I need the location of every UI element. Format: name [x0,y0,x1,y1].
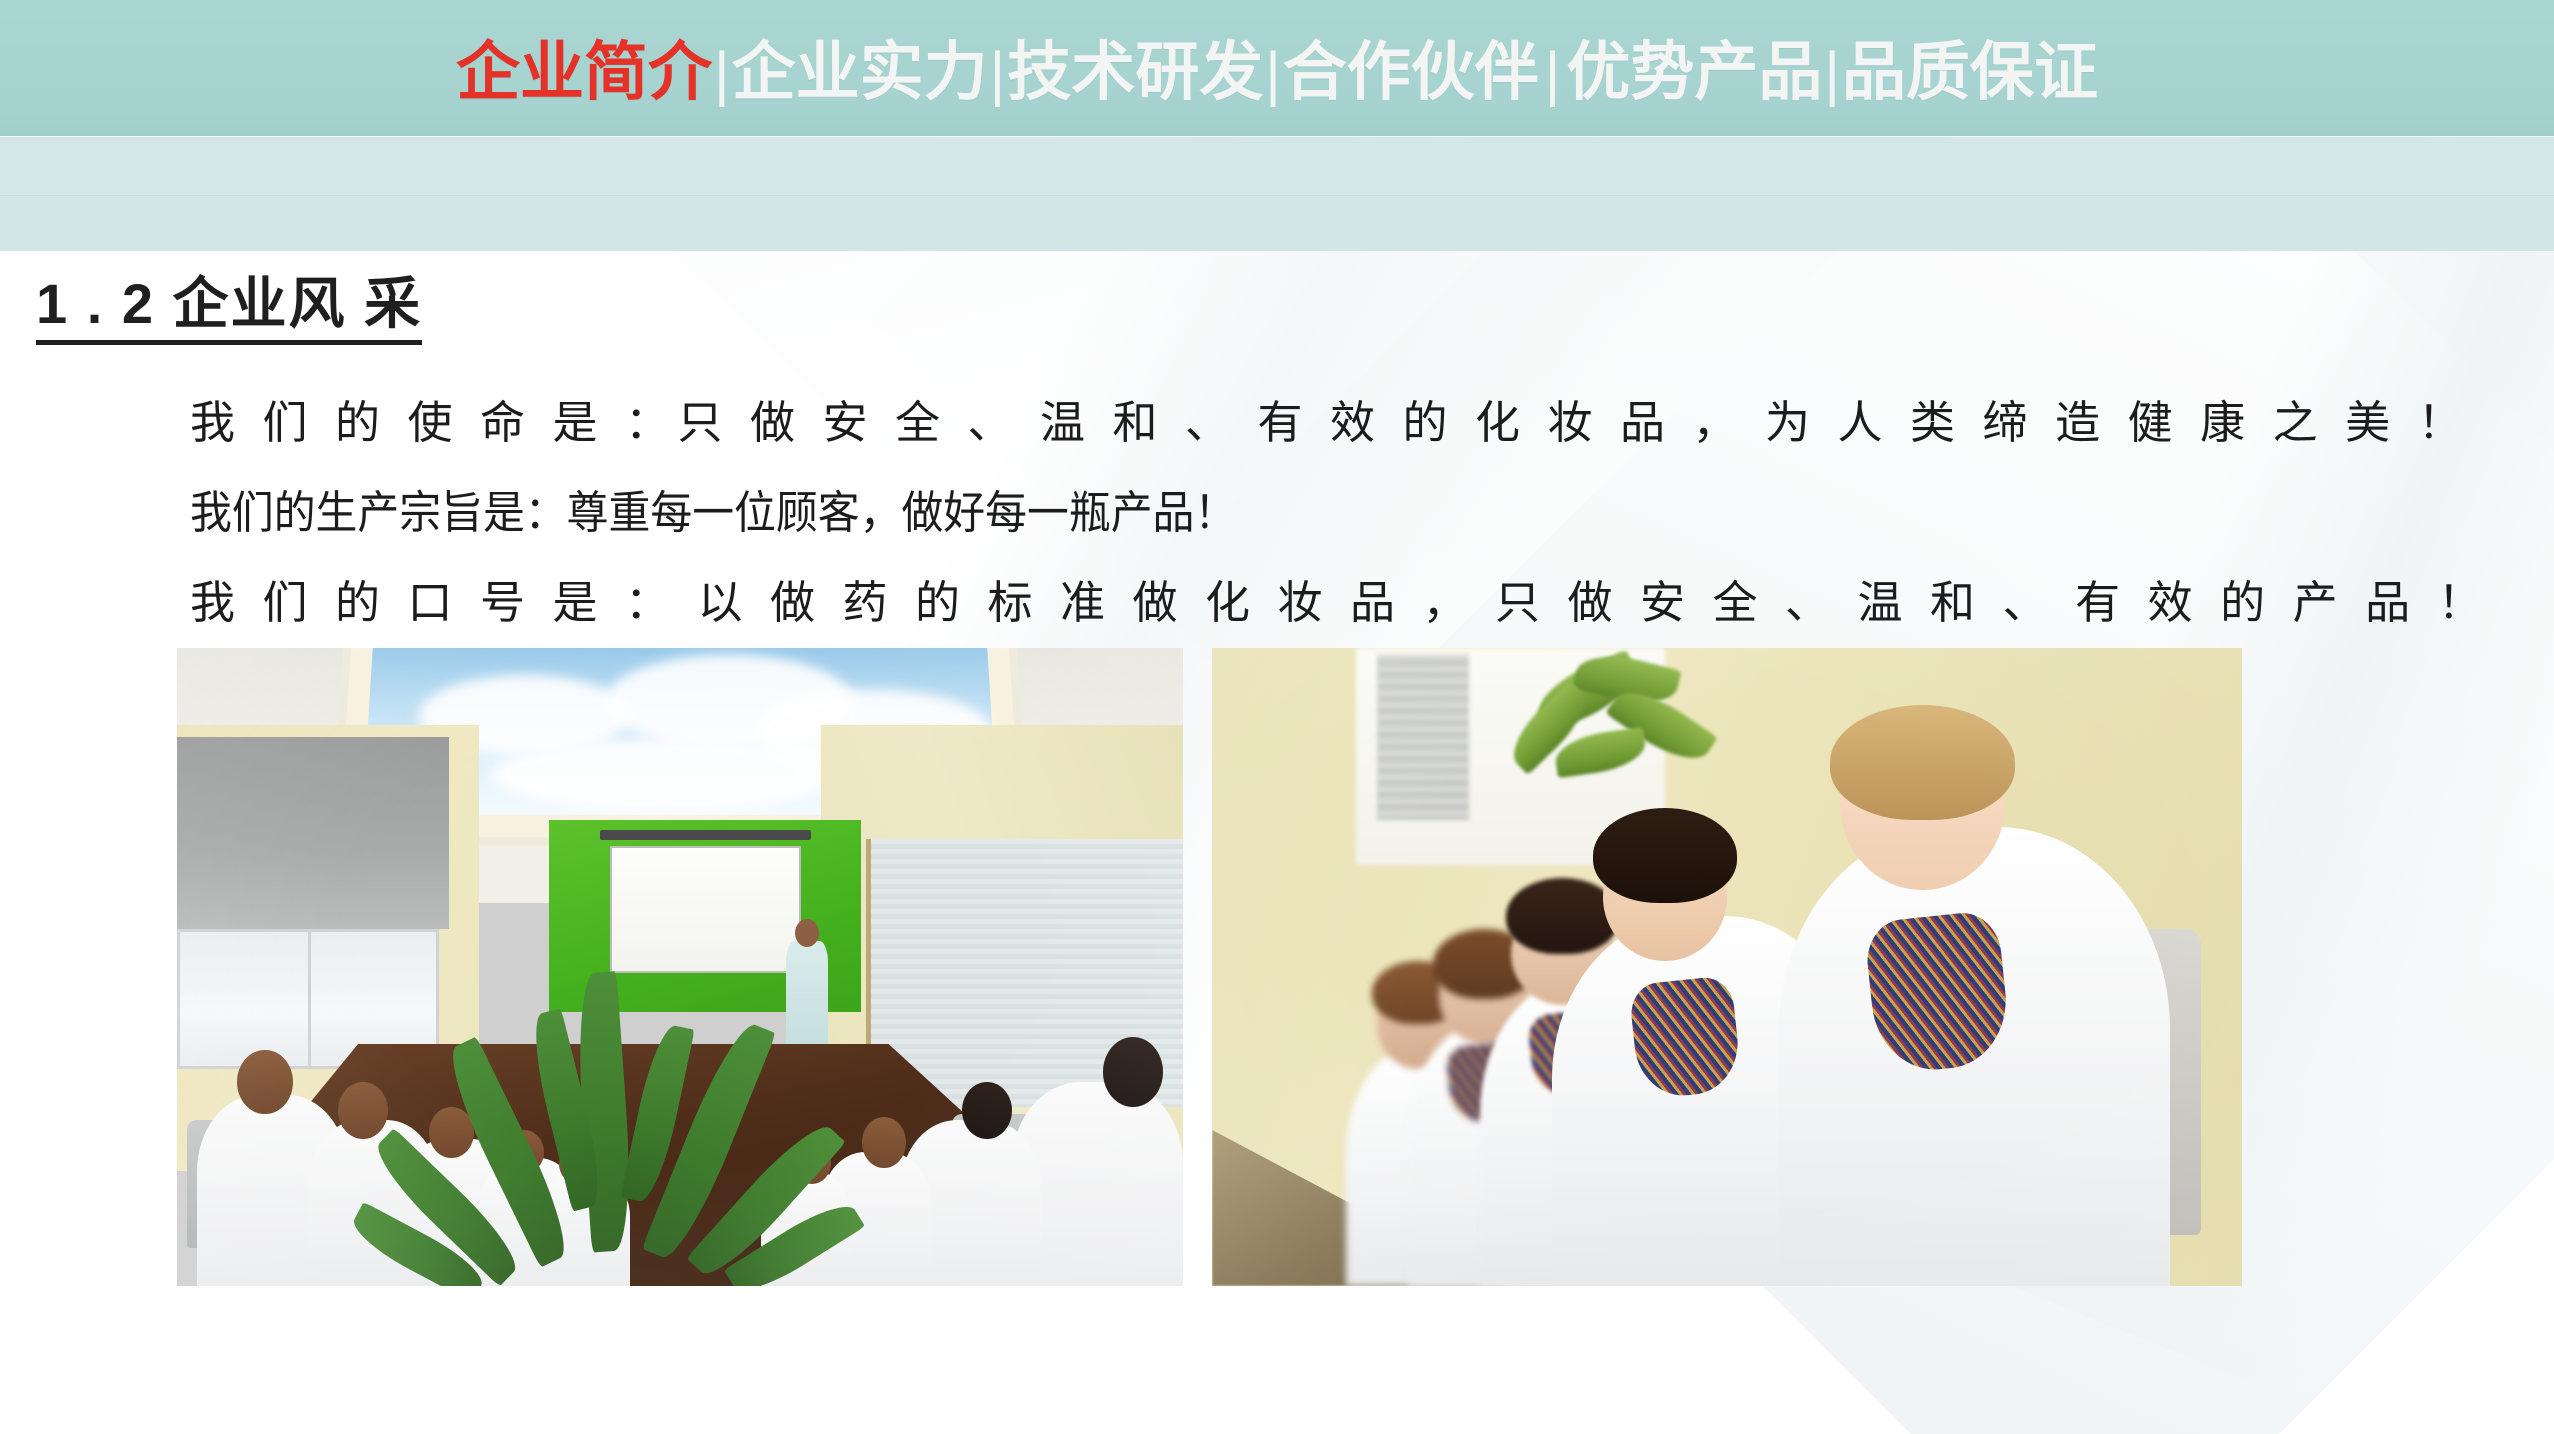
staff-head [962,1082,1012,1139]
nav-separator: | [1263,44,1283,104]
background-plant [1480,654,1748,833]
nav-separator: | [988,44,1008,104]
header-band-mid [0,137,2554,196]
staff-team-photo [1212,648,2242,1286]
projector-screen-housing [600,830,811,840]
table-plant [449,929,791,1286]
header-band-low [0,196,2554,251]
nav-item-1[interactable]: 企业简介 [456,40,712,104]
top-navigation: 企业简介|企业实力|技术研发|合作伙伴|优势产品|品质保证 [0,0,2554,136]
presenter-head [795,919,819,947]
conference-room-meeting-photo [177,648,1183,1286]
nav-item-6[interactable]: 品质保证 [1842,40,2098,104]
staff-hair [1593,808,1737,904]
cloud [490,739,845,811]
staff-head [862,1117,906,1168]
staff-head [237,1050,292,1114]
body-line-1: 我 们 的 使 命 是 ：只 做 安 全 、 温 和 、 有 效 的 化 妆 品… [190,378,2450,468]
nav-item-4[interactable]: 合作伙伴 [1283,40,1539,104]
page-title: 1 . 2 企业风 采 [36,272,422,345]
nav-items-container: 企业简介|企业实力|技术研发|合作伙伴|优势产品|品质保证 [456,40,2098,104]
body-line-3: 我 们 的 口 号 是 ： 以 做 药 的 标 准 做 化 妆 品 ， 只 做 … [190,558,2450,648]
nav-item-3[interactable]: 技术研发 [1007,40,1263,104]
building-outside [1377,654,1470,820]
nav-separator: | [1539,44,1567,104]
staff-hair [1830,705,2015,820]
window-blind [177,737,449,928]
staff-head [1103,1037,1163,1107]
slide-canvas: 企业简介|企业实力|技术研发|合作伙伴|优势产品|品质保证 1 . 2 企业风 … [0,0,2554,1434]
nav-item-5[interactable]: 优势产品 [1566,40,1822,104]
nav-item-2[interactable]: 企业实力 [732,40,988,104]
body-text-block: 我 们 的 使 命 是 ：只 做 安 全 、 温 和 、 有 效 的 化 妆 品… [190,378,2450,648]
nav-separator: | [1822,44,1842,104]
body-line-2: 我们的生产宗旨是：尊重每一位顾客，做好每一瓶产品！ [190,468,2292,558]
nav-separator: | [712,44,732,104]
staff-hair [1506,878,1619,955]
presenter-body [786,941,828,1049]
